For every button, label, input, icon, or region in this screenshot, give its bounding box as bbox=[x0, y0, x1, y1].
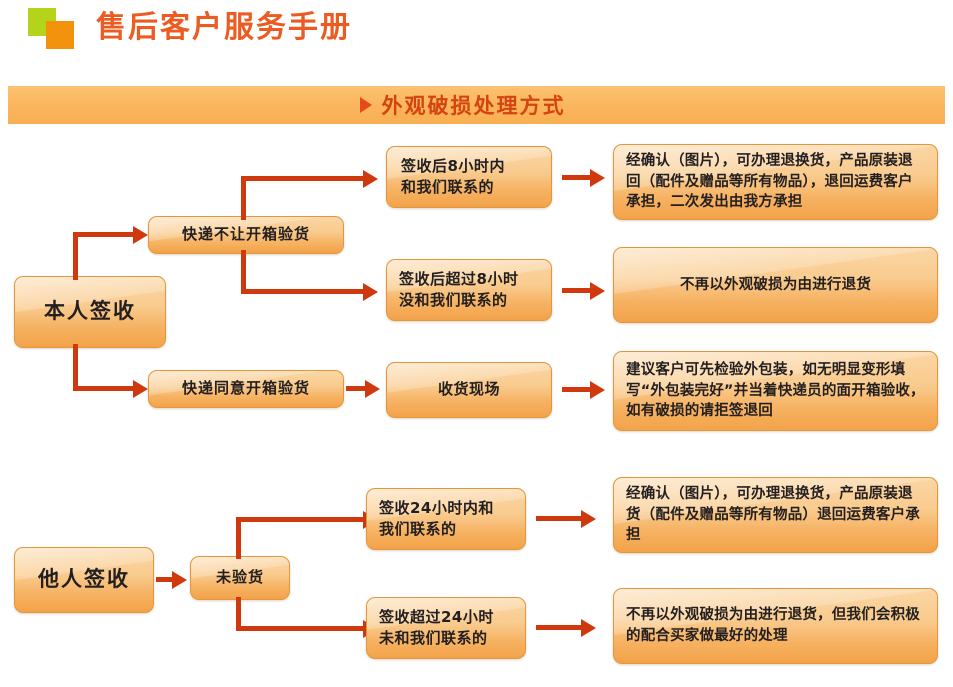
section-banner: 外观破损处理方式 bbox=[8, 86, 945, 124]
connector-root1-spine-up bbox=[73, 234, 78, 280]
arrowhead-to-branch1 bbox=[133, 226, 148, 244]
node-condition-allow-open-inspection: 快递同意开箱验货 bbox=[148, 370, 344, 408]
logo-square-orange-icon bbox=[46, 21, 74, 49]
section-banner-inner: 外观破损处理方式 bbox=[360, 90, 566, 120]
connector-branch3-split-up bbox=[236, 519, 241, 559]
connector-case3-to-outcome3 bbox=[562, 387, 592, 392]
node-label: 不再以外观破损为由进行退货，但我们会积极的配合买家做最好的处理 bbox=[626, 605, 925, 646]
connector-branch1-to-case1 bbox=[241, 176, 365, 181]
connector-case4-to-outcome4 bbox=[536, 516, 584, 521]
page-title: 售后客户服务手册 bbox=[96, 8, 352, 48]
connector-case5-to-outcome5 bbox=[536, 625, 584, 630]
section-banner-label: 外观破损处理方式 bbox=[382, 90, 566, 120]
arrowhead-to-case2 bbox=[363, 283, 378, 301]
node-label: 签收后8小时内 和我们联系的 bbox=[401, 156, 537, 199]
node-outcome-inspect-advice: 建议客户可先检验外包装，如无明显变形填写“外包装完好”并当着快递员的面开箱验收，… bbox=[613, 351, 938, 431]
node-root-self-signed: 本人签收 bbox=[14, 276, 166, 348]
connector-branch1-split-up bbox=[241, 178, 246, 220]
arrowhead-to-branch-not-inspected bbox=[172, 571, 187, 589]
node-label: 签收后超过8小时 没和我们联系的 bbox=[399, 269, 539, 312]
arrowhead-to-outcome2 bbox=[590, 282, 605, 300]
right-triangle-icon bbox=[360, 97, 372, 113]
connector-branch3-to-case1 bbox=[236, 517, 365, 522]
node-root-other-signed: 他人签收 bbox=[14, 547, 154, 613]
node-outcome-exchange-allowed: 经确认（图片），可办理退换货，产品原装退回（配件及赠品等所有物品），退回运费客户… bbox=[613, 144, 938, 220]
node-case-within-8h: 签收后8小时内 和我们联系的 bbox=[386, 146, 552, 208]
node-case-over-8h: 签收后超过8小时 没和我们联系的 bbox=[386, 259, 552, 321]
node-label: 建议客户可先检验外包装，如无明显变形填写“外包装完好”并当着快递员的面开箱验收，… bbox=[626, 360, 925, 422]
connector-branch1-to-case2 bbox=[241, 289, 365, 294]
arrowhead-to-outcome3 bbox=[590, 381, 605, 399]
arrowhead-to-outcome5 bbox=[581, 619, 596, 637]
node-label: 签收超过24小时 未和我们联系的 bbox=[379, 607, 513, 650]
connector-case1-to-outcome1 bbox=[562, 175, 592, 180]
node-outcome-no-return: 不再以外观破损为由进行退货 bbox=[613, 247, 938, 323]
arrowhead-to-outcome4 bbox=[581, 510, 596, 528]
arrowhead-to-outcome1 bbox=[590, 169, 605, 187]
brand-logo bbox=[28, 8, 90, 52]
node-label: 快递同意开箱验货 bbox=[149, 378, 343, 399]
node-outcome-no-return-but-assist: 不再以外观破损为由进行退货，但我们会积极的配合买家做最好的处理 bbox=[613, 588, 938, 664]
connector-root1-to-branch2 bbox=[73, 386, 135, 391]
node-condition-no-open-inspection: 快递不让开箱验货 bbox=[148, 216, 344, 254]
arrowhead-to-branch2 bbox=[133, 380, 148, 398]
connector-branch3-to-case2 bbox=[236, 626, 365, 631]
node-label: 快递不让开箱验货 bbox=[149, 224, 343, 245]
node-condition-not-inspected: 未验货 bbox=[190, 556, 290, 600]
node-case-at-delivery: 收货现场 bbox=[386, 362, 552, 418]
connector-root1-to-branch1 bbox=[73, 232, 135, 237]
arrowhead-to-case3 bbox=[365, 380, 380, 398]
node-label: 不再以外观破损为由进行退货 bbox=[626, 275, 925, 296]
node-outcome-exchange-allowed-24h: 经确认（图片），可办理退换货，产品原装退货（配件及赠品等所有物品）退回运费客户承… bbox=[613, 477, 938, 553]
node-label: 他人签收 bbox=[15, 565, 153, 595]
connector-case2-to-outcome2 bbox=[562, 288, 592, 293]
node-label: 本人签收 bbox=[15, 297, 165, 327]
node-case-within-24h: 签收24小时内和 我们联系的 bbox=[366, 488, 526, 550]
node-case-over-24h: 签收超过24小时 未和我们联系的 bbox=[366, 597, 526, 659]
node-label: 收货现场 bbox=[387, 379, 551, 400]
arrowhead-to-case1 bbox=[363, 170, 378, 188]
connector-root1-spine-down bbox=[73, 344, 78, 390]
document-canvas: 售后客户服务手册 外观破损处理方式 本人签收 快递不让开箱验货 快递同意开箱验货… bbox=[0, 0, 953, 687]
connector-branch1-split-down bbox=[241, 250, 246, 294]
node-label: 签收24小时内和 我们联系的 bbox=[379, 498, 513, 541]
node-label: 未验货 bbox=[191, 567, 289, 588]
node-label: 经确认（图片），可办理退换货，产品原装退回（配件及赠品等所有物品），退回运费客户… bbox=[626, 151, 925, 213]
node-label: 经确认（图片），可办理退换货，产品原装退货（配件及赠品等所有物品）退回运费客户承… bbox=[626, 484, 925, 546]
